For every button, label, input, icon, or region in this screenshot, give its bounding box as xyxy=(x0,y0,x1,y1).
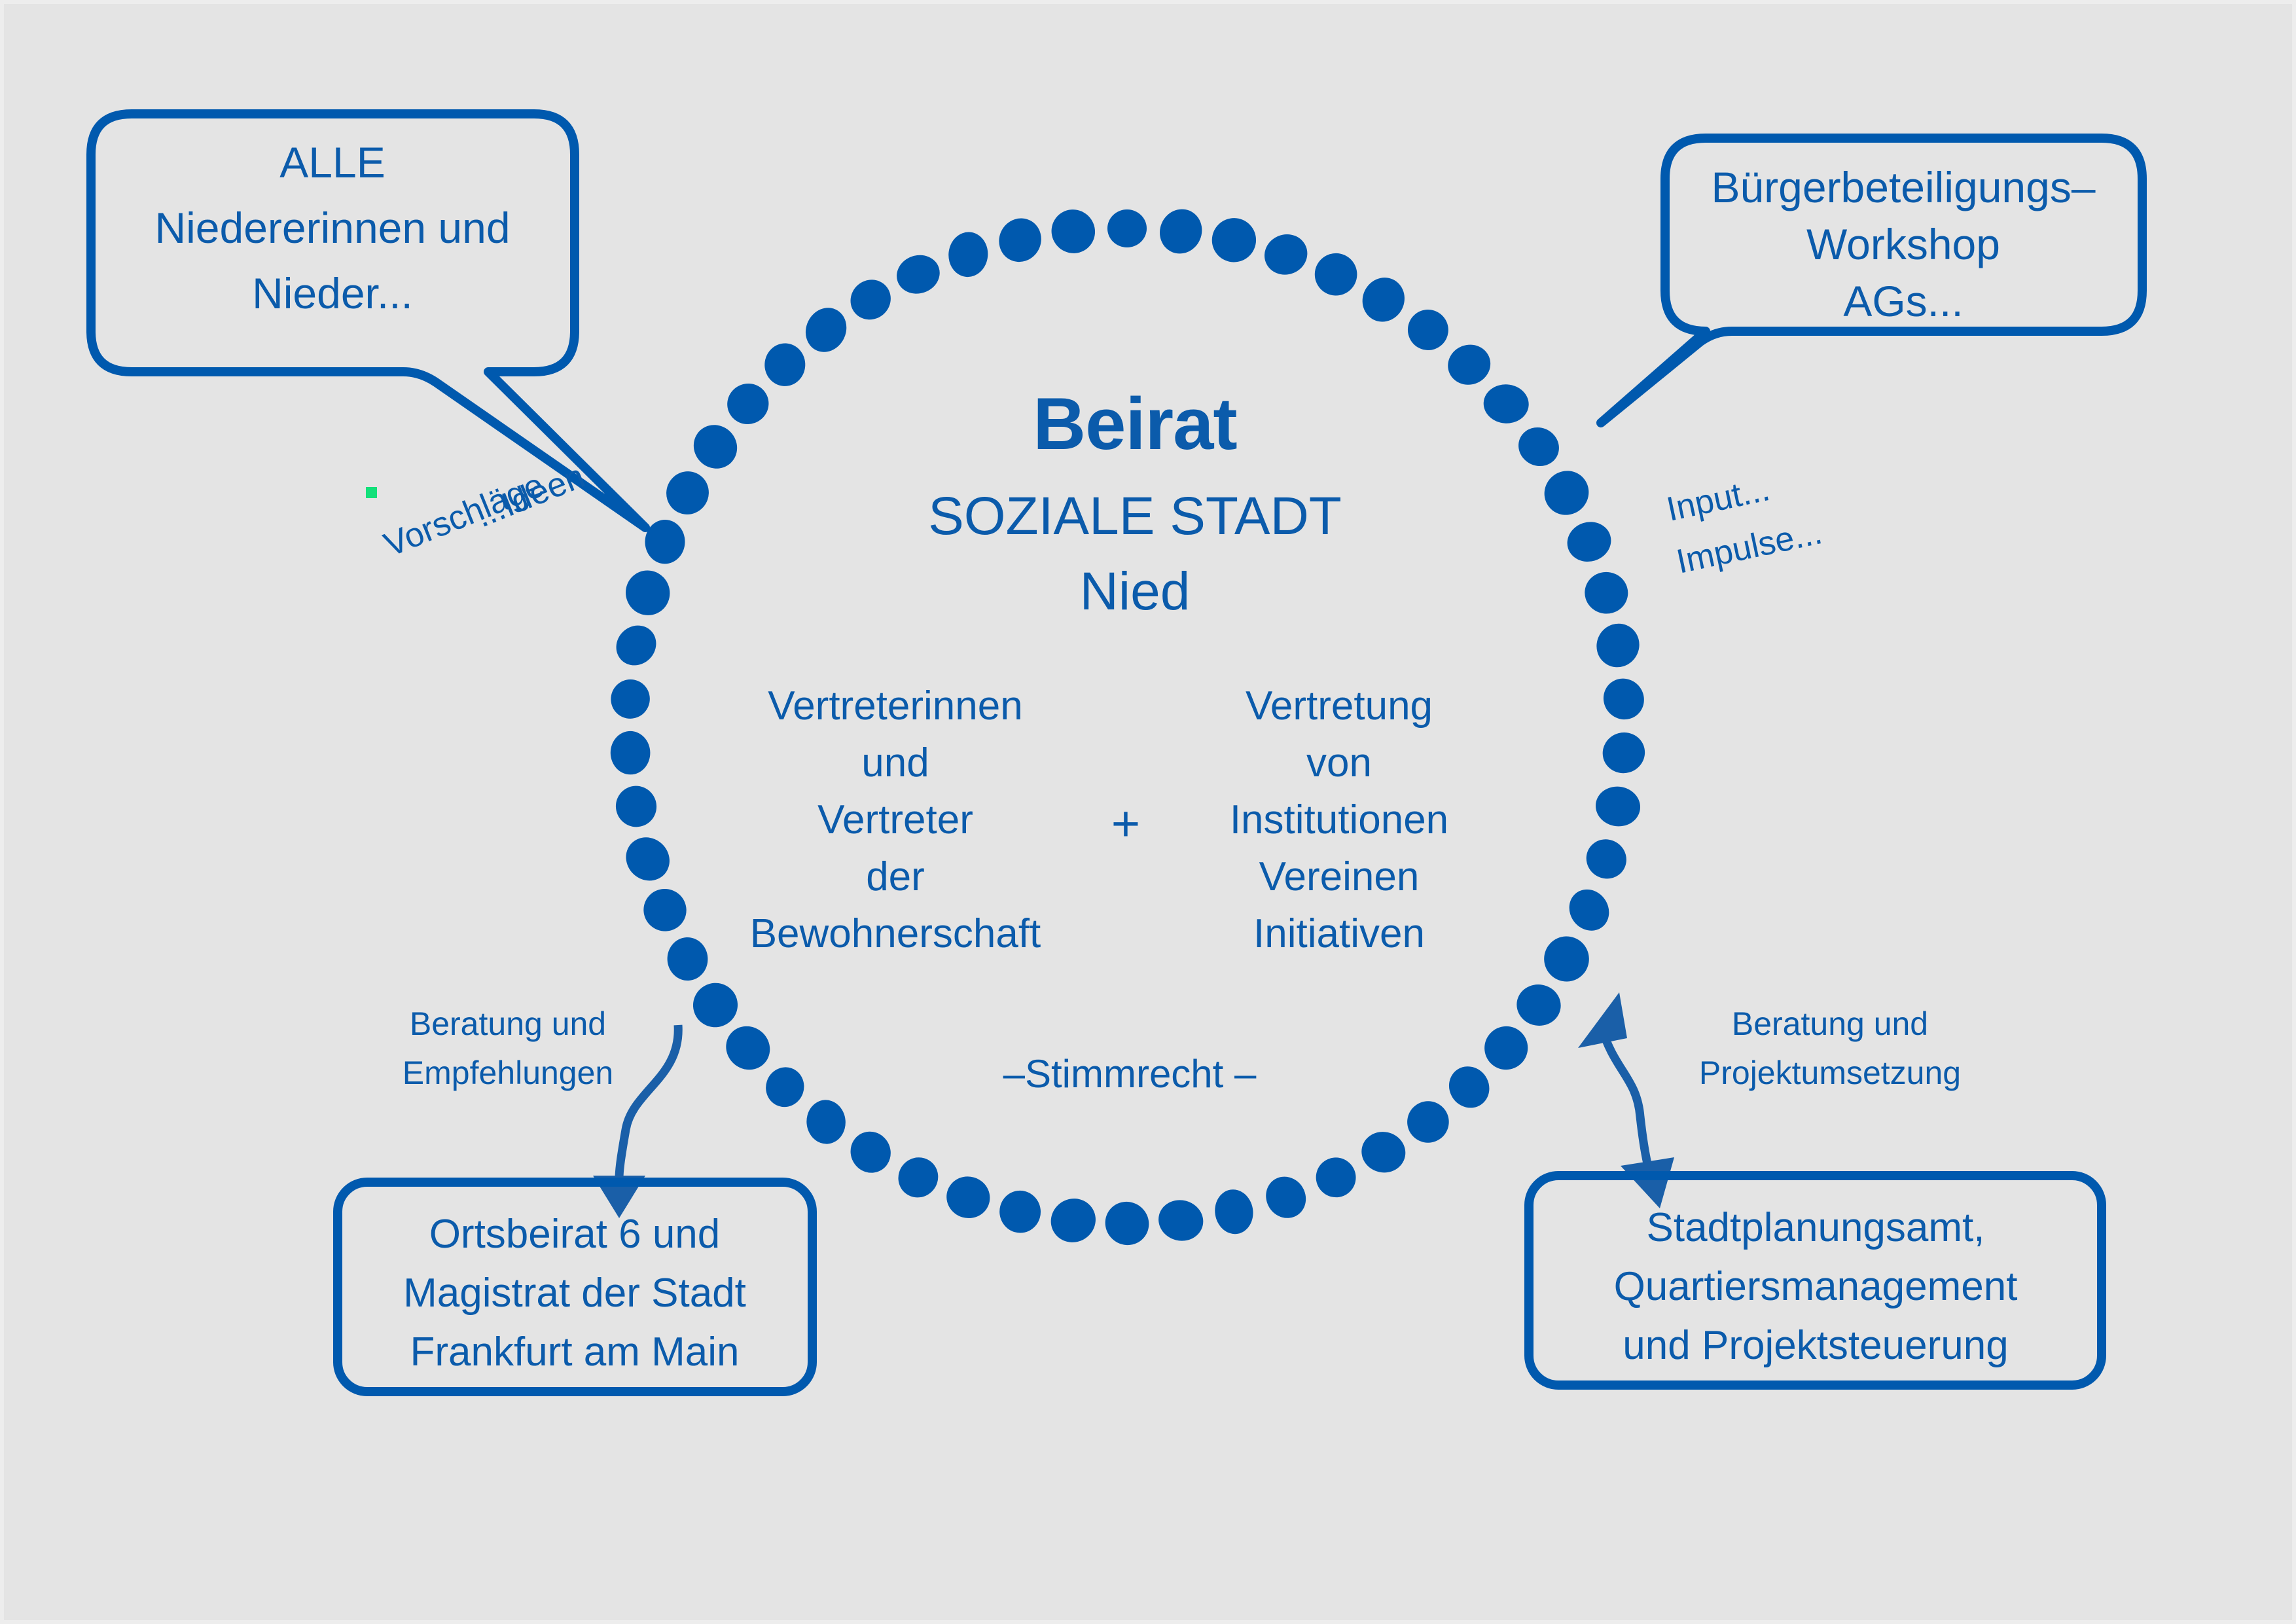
right-column-line-3: Institutionen xyxy=(1230,797,1448,842)
ring-dot xyxy=(619,564,677,622)
left-column-line-4: der xyxy=(866,854,925,899)
center-subtitle-line1: SOZIALE STADT xyxy=(928,486,1342,546)
box-br-line-3: und Projektsteuerung xyxy=(1623,1323,2008,1368)
ring-dot xyxy=(1043,201,1104,262)
left-column-line-3: Vertreter xyxy=(817,797,973,842)
ring-dot xyxy=(1154,1195,1208,1246)
ring-dot xyxy=(1107,209,1147,247)
ring-dot xyxy=(1203,209,1265,271)
label-bottom-left-line-2: Empfehlungen xyxy=(403,1055,613,1091)
left-column-line-2: und xyxy=(861,740,929,785)
ring-dot xyxy=(1476,1018,1536,1078)
ring-dot xyxy=(805,1098,848,1146)
label-bottom-left-line-1: Beratung und xyxy=(410,1005,606,1042)
center-subtitle-line2: Nied xyxy=(1080,562,1191,621)
ring-dot xyxy=(666,936,709,981)
curved-arrow-down-left xyxy=(619,1025,678,1179)
bubble-tl-line-2: Niedererinnen und xyxy=(154,204,510,252)
left-column-line-1: Vertreterinnen xyxy=(768,683,1022,729)
ring-dot xyxy=(842,272,899,328)
ring-dot xyxy=(1583,570,1630,616)
bubble-tr-line-2: Workshop xyxy=(1806,220,2000,268)
ring-dot xyxy=(997,1188,1043,1235)
ring-dot xyxy=(605,674,656,725)
ring-dot xyxy=(637,883,692,937)
ring-dot xyxy=(717,1017,779,1079)
ring-dot xyxy=(1598,728,1649,778)
ring-dot xyxy=(685,416,746,478)
ring-dot xyxy=(1153,203,1209,261)
ring-dot xyxy=(1562,516,1616,567)
box-bl-line-1: Ortsbeirat 6 und xyxy=(429,1212,721,1257)
box-bl-line-3: Frankfurt am Main xyxy=(410,1329,739,1375)
ring-dot xyxy=(1512,420,1566,473)
ring-dot xyxy=(721,378,774,430)
ring-dot xyxy=(891,249,944,299)
box-br-line-1: Stadtplanungsamt, xyxy=(1646,1205,1984,1250)
ring-dot xyxy=(1561,882,1617,939)
green-marker-dot xyxy=(366,487,377,498)
right-column-line-2: von xyxy=(1306,740,1372,785)
ring-dot xyxy=(609,780,663,834)
ring-dot xyxy=(1096,1193,1157,1254)
ring-dot xyxy=(1259,228,1313,281)
ring-dot xyxy=(992,211,1049,269)
annotation-ideen-vorschlaege: ...Ideen Vorschläge xyxy=(366,457,590,564)
ring-dot xyxy=(617,829,679,890)
dotted-circle-ring xyxy=(605,201,1652,1254)
ring-dot xyxy=(1593,784,1643,829)
ring-dot xyxy=(610,731,651,774)
ring-dot xyxy=(608,617,664,674)
ring-dot xyxy=(946,230,990,279)
ring-dot xyxy=(1357,1128,1409,1177)
ring-dot xyxy=(764,342,806,388)
ring-dot xyxy=(1595,670,1652,728)
bubble-tl-line-1: ALLE xyxy=(279,138,385,187)
box-bl-line-2: Magistrat der Stadt xyxy=(403,1271,746,1316)
ring-dot xyxy=(1588,616,1647,675)
beirat-soziale-stadt-diagram: Beirat SOZIALE STADT Nied Vertreterinnen… xyxy=(4,4,2296,1624)
ring-dot xyxy=(1308,1149,1364,1205)
ring-dot xyxy=(1513,981,1564,1030)
ring-dot xyxy=(1443,339,1496,391)
ring-dot xyxy=(1441,1058,1498,1115)
ring-dot xyxy=(660,465,716,522)
box-br-line-2: Quartiersmanagement xyxy=(1614,1264,2018,1309)
right-column-line-1: Vertretung xyxy=(1246,683,1433,729)
left-column-line-5: Bewohnerschaft xyxy=(750,911,1041,956)
ring-dot xyxy=(798,301,854,359)
stimmrecht-note: –Stimmrecht – xyxy=(1003,1052,1257,1096)
ring-dot xyxy=(1535,462,1598,524)
bubble-tr-line-1: Bürgerbeteiligungs– xyxy=(1711,163,2095,211)
ring-dot xyxy=(1399,301,1456,358)
speech-bubble-top-right[interactable]: Bürgerbeteiligungs– Workshop AGs... xyxy=(1601,138,2142,423)
ring-dot xyxy=(1355,270,1412,329)
right-column-line-5: Initiativen xyxy=(1253,911,1425,956)
ring-dot xyxy=(942,1172,995,1223)
ring-dot xyxy=(1211,1187,1256,1236)
label-bottom-right-line-1: Beratung und xyxy=(1732,1005,1928,1042)
annotation-right-line-1: Input... xyxy=(1663,470,1773,529)
ring-dot xyxy=(890,1149,946,1206)
ring-dot xyxy=(645,519,685,564)
ring-dot xyxy=(1539,932,1593,986)
bubble-tr-line-3: AGs... xyxy=(1843,277,1963,325)
ring-dot xyxy=(1404,1098,1453,1146)
arrow-head-up-right xyxy=(1578,992,1627,1048)
curved-double-arrow-right xyxy=(1601,1025,1650,1174)
ring-dot xyxy=(1579,832,1634,886)
right-column-line-4: Vereinen xyxy=(1259,854,1420,899)
center-title: Beirat xyxy=(1033,383,1236,465)
box-stadtplanungsamt[interactable]: Stadtplanungsamt, Quartiersmanagement un… xyxy=(1529,1176,2102,1385)
ring-dot xyxy=(761,1062,809,1112)
arrow-head-down-right xyxy=(1621,1157,1674,1208)
label-bottom-right-line-2: Projektumsetzung xyxy=(1699,1055,1961,1091)
annotation-input-impulse: Input... Impulse... xyxy=(1663,470,1825,581)
ring-dot xyxy=(1043,1191,1103,1251)
ring-dot xyxy=(1482,383,1530,425)
plus-symbol: + xyxy=(1111,796,1140,852)
ring-dot xyxy=(844,1125,898,1180)
ring-dot xyxy=(686,975,745,1034)
ring-dot xyxy=(1314,253,1358,297)
ring-dot xyxy=(1258,1169,1314,1225)
box-ortsbeirat-magistrat[interactable]: Ortsbeirat 6 und Magistrat der Stadt Fra… xyxy=(338,1182,812,1392)
bubble-tl-line-3: Nieder... xyxy=(252,269,413,317)
diagram-canvas: Beirat SOZIALE STADT Nied Vertreterinnen… xyxy=(0,0,2296,1624)
